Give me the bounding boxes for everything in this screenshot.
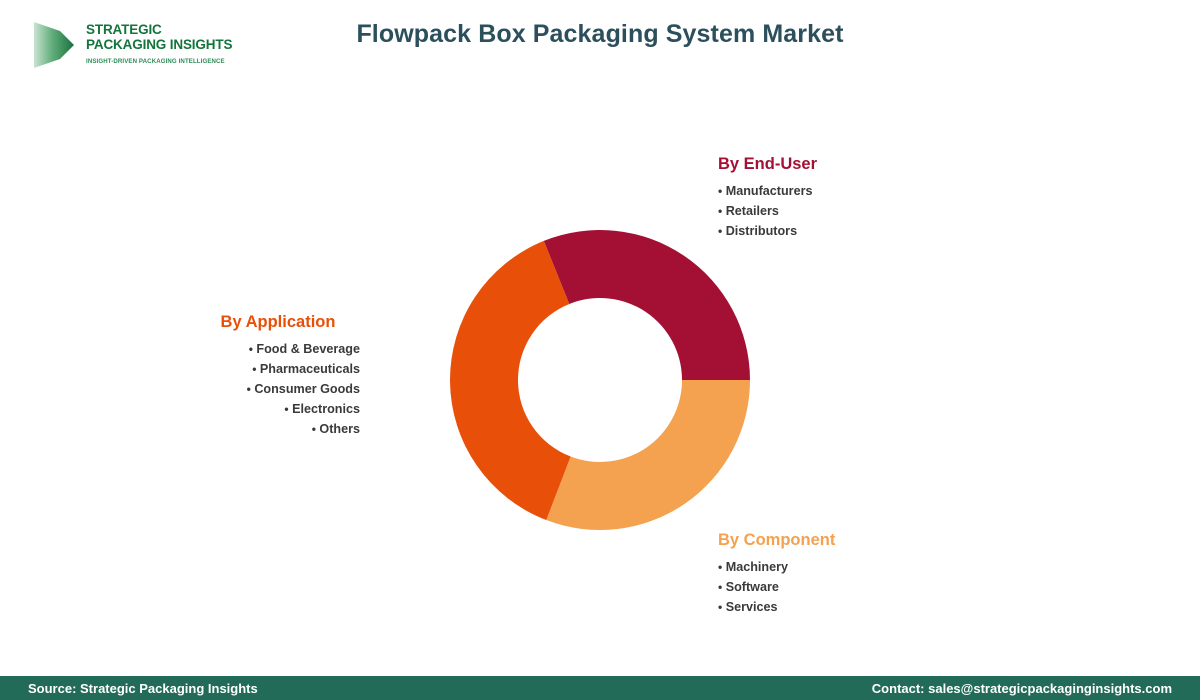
list-item: • Manufacturers [718, 181, 817, 201]
list-item: • Electronics [180, 399, 360, 419]
bullet-icon: • [718, 224, 722, 238]
bullet-icon: • [252, 362, 256, 376]
bullet-icon: • [718, 184, 722, 198]
footer-contact: Contact: sales@strategicpackaginginsight… [872, 681, 1172, 696]
list-item: • Software [718, 577, 835, 597]
list-item: • Services [718, 597, 835, 617]
list-item-label: Manufacturers [726, 184, 813, 198]
bullet-icon: • [312, 422, 316, 436]
donut-chart [440, 220, 760, 540]
bullet-icon: • [718, 600, 722, 614]
segment-list-component: • Machinery • Software • Services [718, 557, 835, 617]
list-item: • Distributors [718, 221, 817, 241]
footer-bar: Source: Strategic Packaging Insights Con… [0, 676, 1200, 700]
bullet-icon: • [718, 580, 722, 594]
bullet-icon: • [249, 342, 253, 356]
segment-heading-application: By Application [180, 313, 360, 332]
segment-heading-end-user: By End-User [718, 155, 817, 174]
segment-heading-component: By Component [718, 531, 835, 550]
list-item-label: Software [726, 580, 779, 594]
donut-slice-component [546, 380, 750, 530]
footer-source: Source: Strategic Packaging Insights [28, 681, 258, 696]
segment-group-component: By Component • Machinery • Software • Se… [718, 531, 835, 617]
list-item-label: Distributors [726, 224, 797, 238]
list-item-label: Pharmaceuticals [260, 362, 360, 376]
segment-group-application: By Application • Food & Beverage • Pharm… [180, 313, 360, 439]
list-item-label: Others [319, 422, 360, 436]
list-item: • Machinery [718, 557, 835, 577]
bullet-icon: • [718, 560, 722, 574]
donut-slice-end-user [544, 230, 750, 380]
list-item: • Retailers [718, 201, 817, 221]
bullet-icon: • [284, 402, 288, 416]
list-item: • Others [180, 419, 360, 439]
segment-group-end-user: By End-User • Manufacturers • Retailers … [718, 155, 817, 241]
list-item: • Pharmaceuticals [180, 359, 360, 379]
donut-slice-application [450, 241, 571, 520]
logo-tagline: INSIGHT-DRIVEN PACKAGING INTELLIGENCE [86, 58, 231, 65]
list-item-label: Consumer Goods [254, 382, 360, 396]
bullet-icon: • [718, 204, 722, 218]
list-item-label: Services [726, 600, 778, 614]
list-item-label: Food & Beverage [256, 342, 360, 356]
list-item: • Consumer Goods [180, 379, 360, 399]
list-item-label: Retailers [726, 204, 779, 218]
list-item-label: Machinery [726, 560, 788, 574]
segment-list-application: • Food & Beverage • Pharmaceuticals • Co… [180, 339, 360, 439]
page-title: Flowpack Box Packaging System Market [0, 20, 1200, 49]
list-item: • Food & Beverage [180, 339, 360, 359]
bullet-icon: • [247, 382, 251, 396]
list-item-label: Electronics [292, 402, 360, 416]
segment-list-end-user: • Manufacturers • Retailers • Distributo… [718, 181, 817, 241]
